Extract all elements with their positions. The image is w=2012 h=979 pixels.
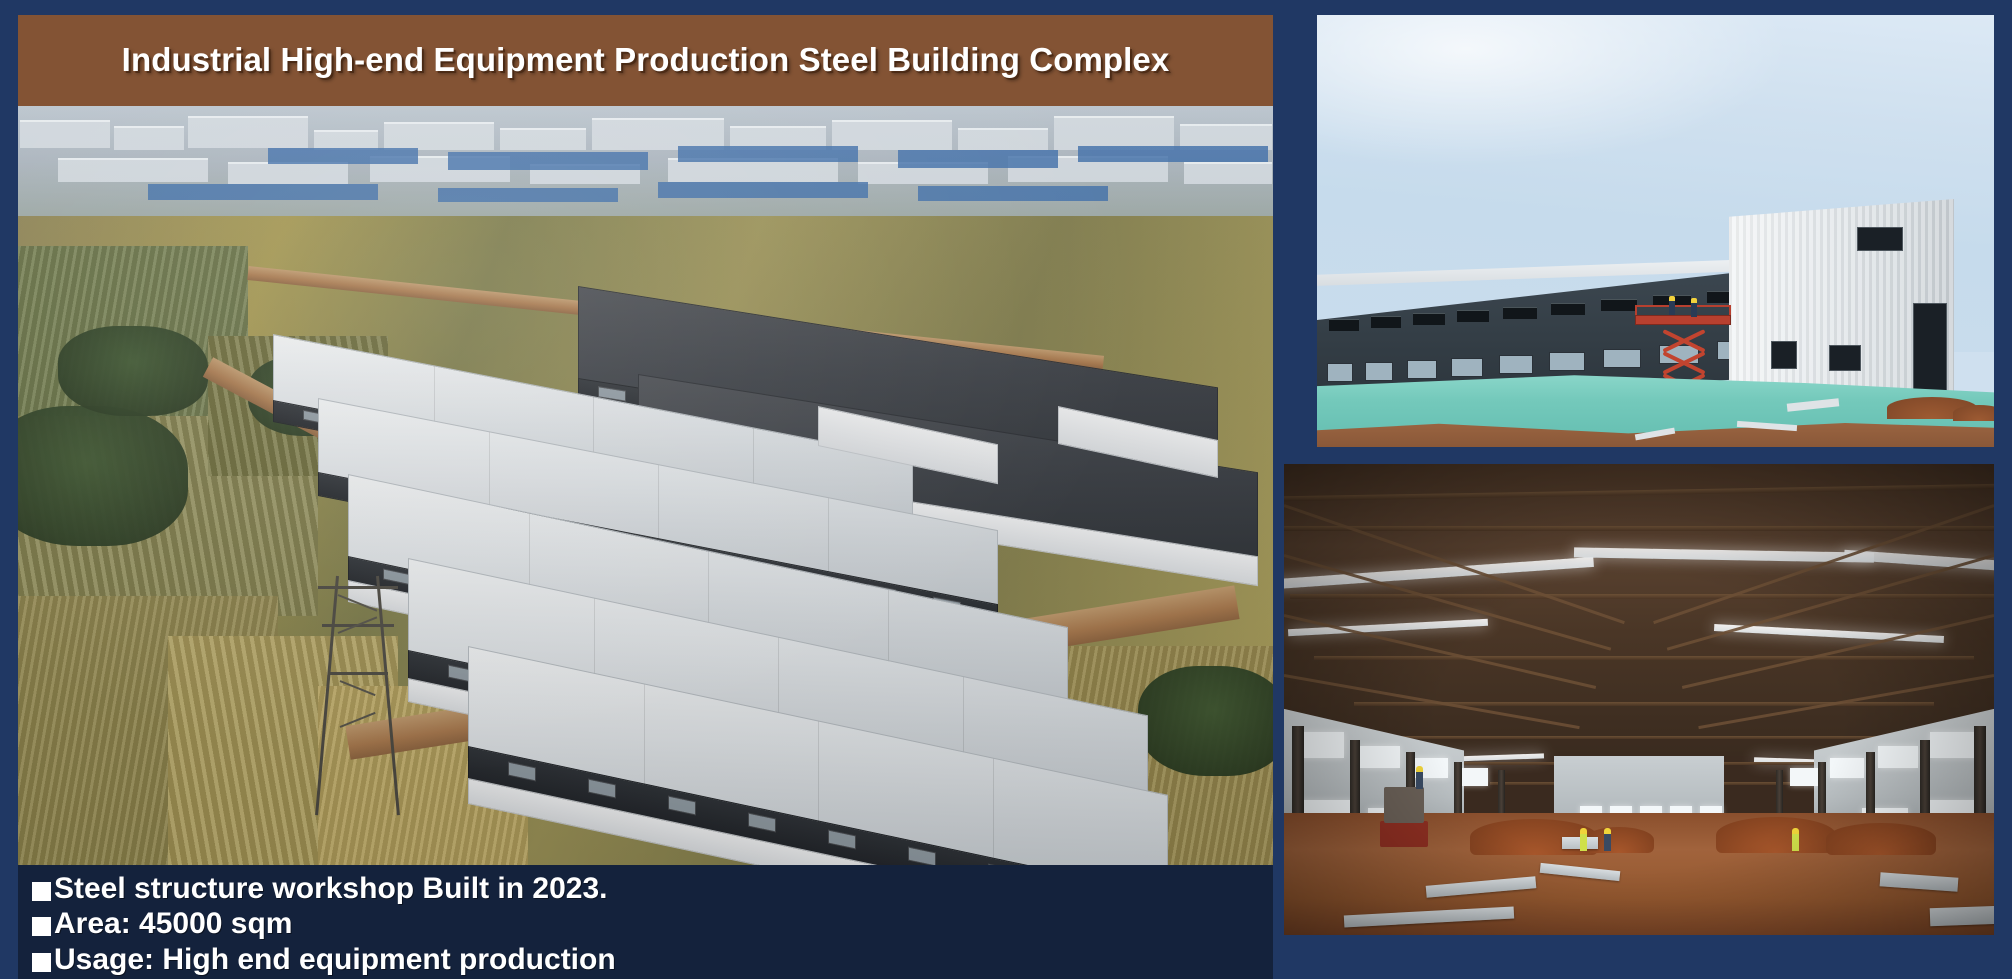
list-item: Usage: High end equipment production [32,944,1273,976]
lift-mast [1384,787,1424,823]
roof-purlin [1284,526,1994,531]
worker [1416,772,1423,789]
gable-door-opening [1913,303,1947,393]
worker [1792,834,1799,851]
wall-window [1298,732,1344,758]
wall-window [1790,768,1818,786]
bullet-text: Usage: High end equipment production [54,944,616,976]
list-item: Steel structure workshop Built in 2023. [32,873,1273,905]
aerial-photo [18,106,1273,865]
sun-glow [1317,15,1791,167]
wall-window [1360,746,1400,768]
gable-upper-window [1857,227,1903,251]
transmission-pylon [318,576,398,816]
square-bullet-icon [32,953,51,972]
right-column [1284,15,1994,936]
square-bullet-icon [32,882,51,901]
worker [1604,834,1611,851]
gable-lower-window [1829,345,1861,371]
lift-scissor-section [1661,349,1707,373]
exterior-photo [1317,15,1994,447]
worker [1580,834,1587,851]
left-column: Industrial High-end Equipment Production… [18,15,1273,979]
caption-panel: Steel structure workshop Built in 2023. … [18,865,1273,979]
worker-on-lift [1691,303,1697,317]
presentation-slide: Industrial High-end Equipment Production… [0,0,2012,979]
list-item: Area: 45000 sqm [32,908,1273,940]
soil-pile [1953,405,1994,421]
aerial-photo-scene [18,106,1273,865]
tree-belt [58,326,208,416]
wall-window [1460,768,1488,786]
bullet-text: Steel structure workshop Built in 2023. [54,873,607,905]
worker-on-lift [1669,301,1675,315]
tree-belt [1138,666,1273,776]
interior-photo [1284,464,1994,935]
wall-window [1930,732,1978,758]
roof-purlin [1290,594,1994,599]
scissor-lift [1380,821,1428,847]
lift-scissor-section [1661,327,1707,351]
bullet-text: Area: 45000 sqm [54,908,292,940]
side-window [1771,341,1797,369]
roof-purlin [1396,736,1896,739]
soil-heap [1826,823,1936,855]
roof-structure [1284,464,1994,756]
lift-platform [1635,315,1731,325]
slide-title-bar: Industrial High-end Equipment Production… [18,15,1273,106]
roof-purlin [1314,656,1974,660]
wall-window [1878,746,1918,768]
wall-window [1830,758,1864,778]
square-bullet-icon [32,917,51,936]
tree-belt [18,406,188,546]
metal-panel-stack [1930,906,1994,926]
page-title: Industrial High-end Equipment Production… [122,40,1170,81]
soil-heap [1716,817,1836,853]
